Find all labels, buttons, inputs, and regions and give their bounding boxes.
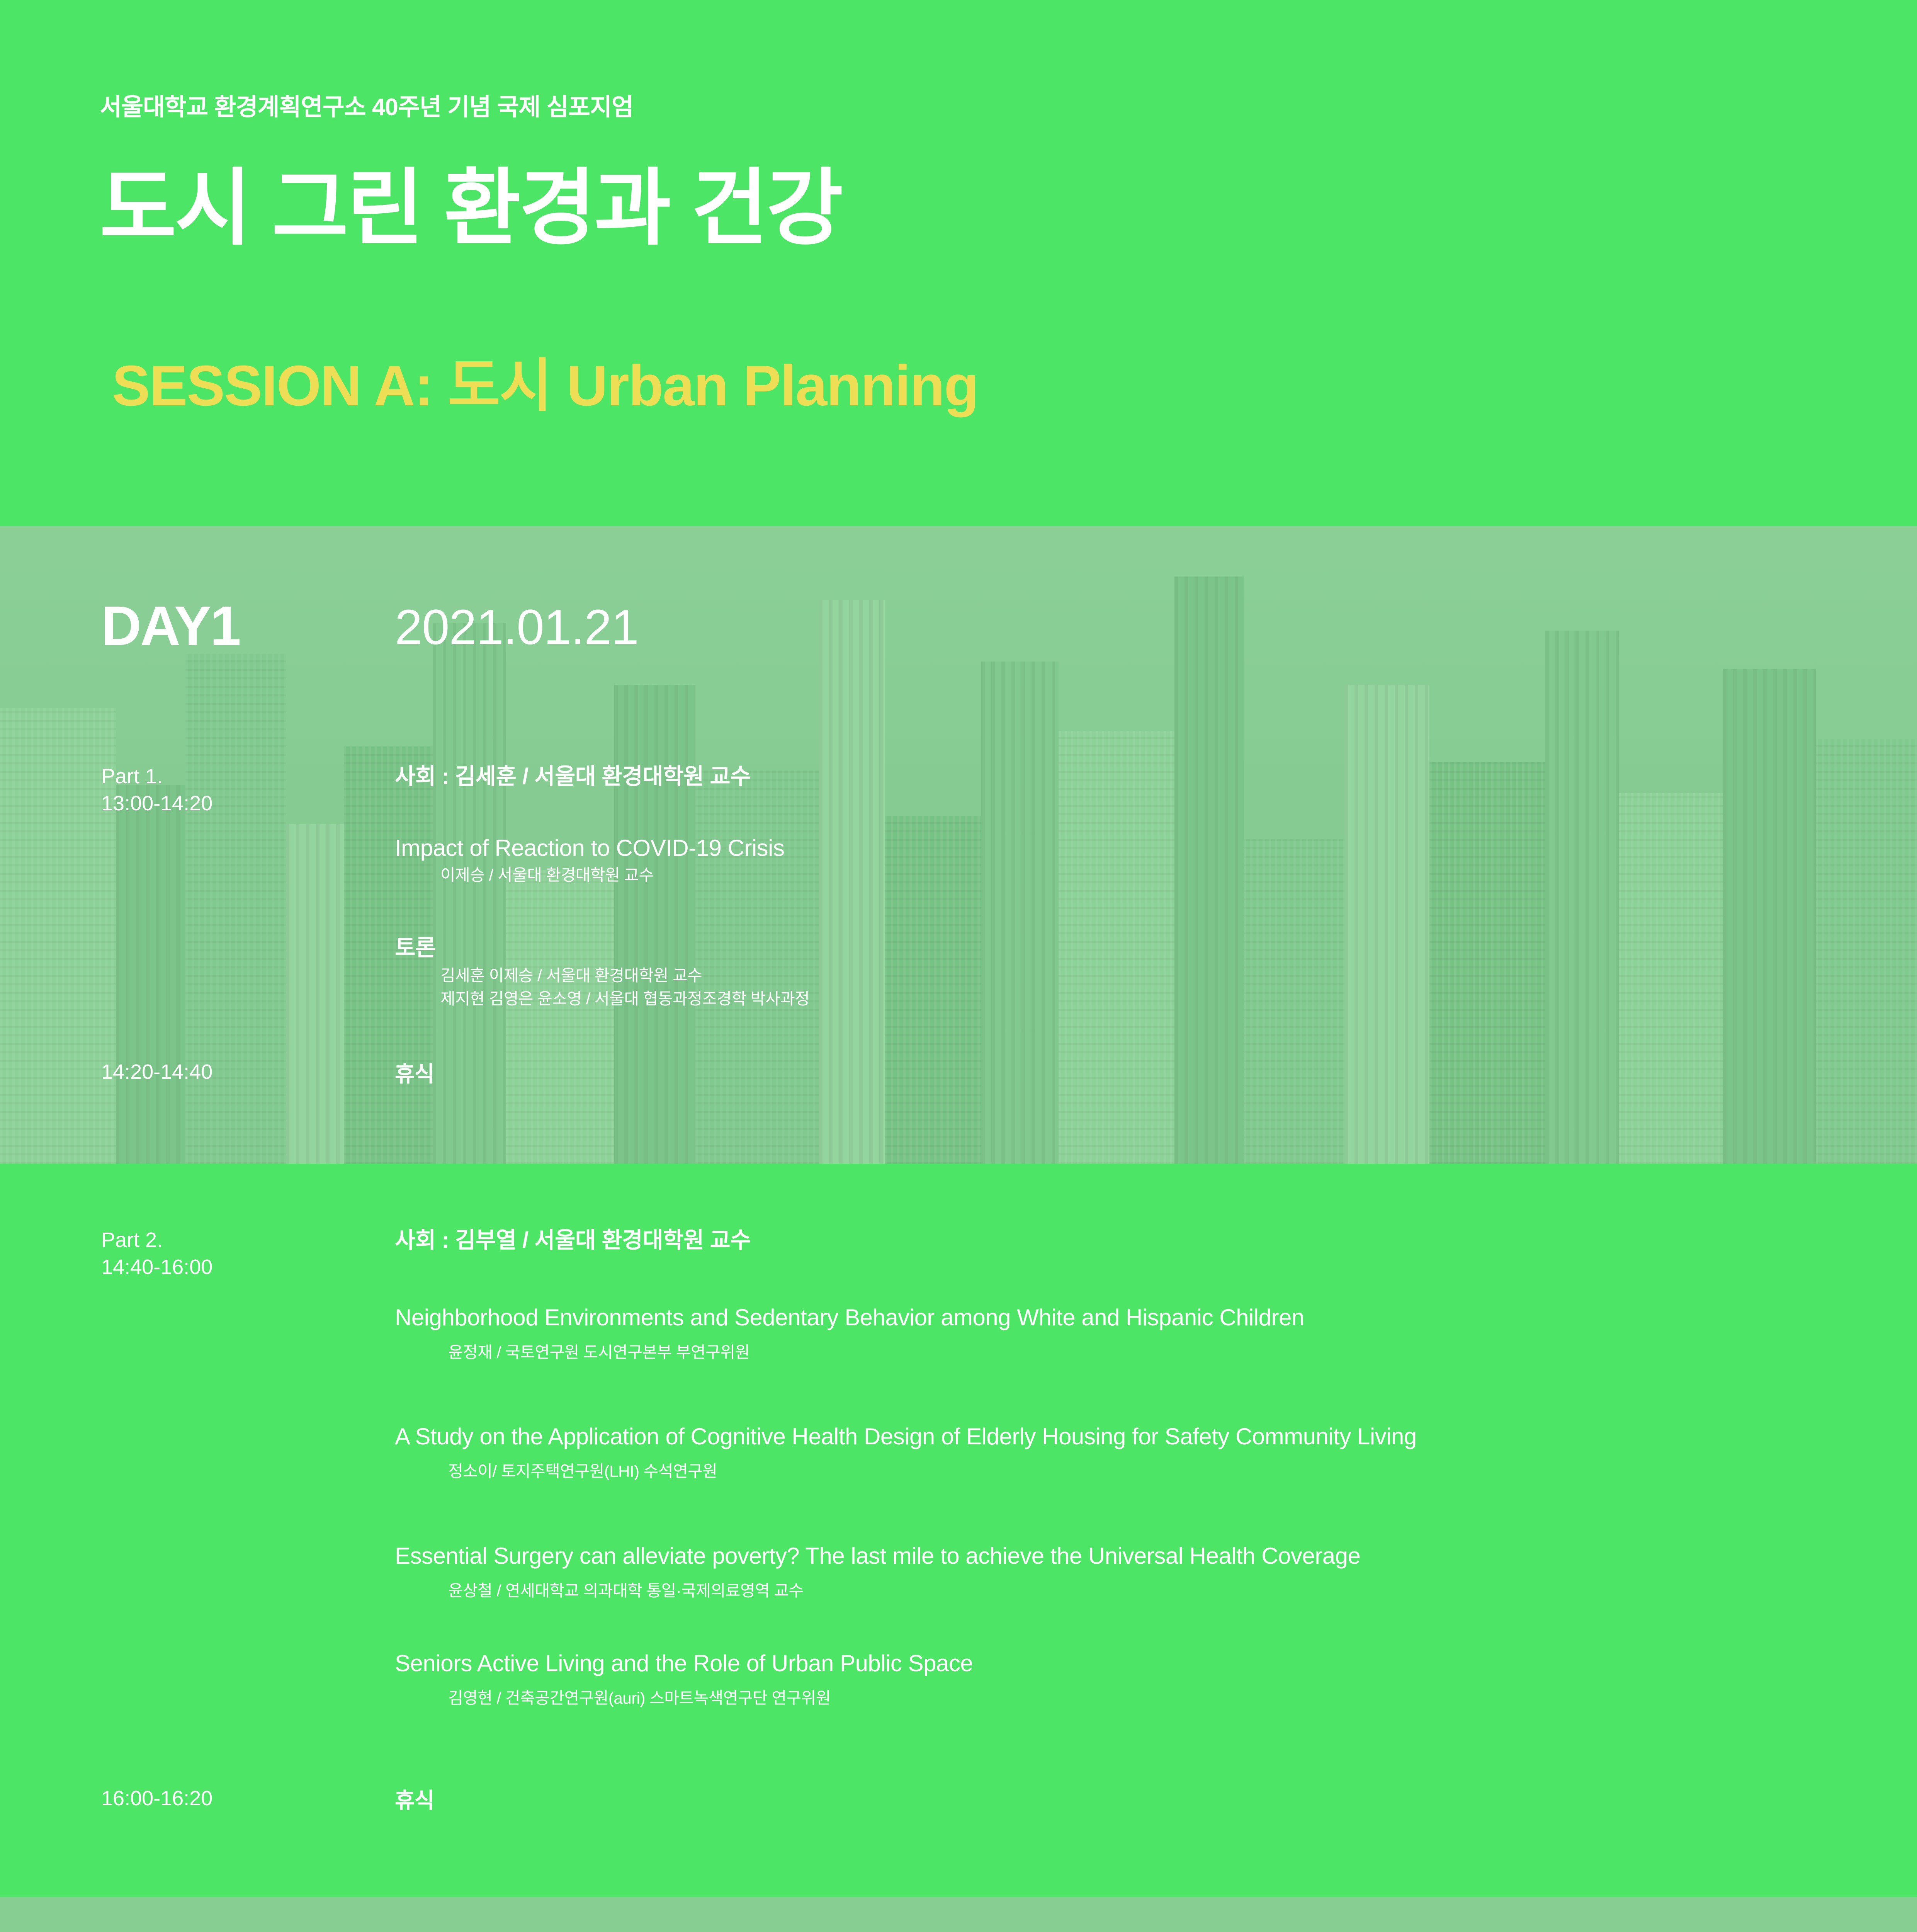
part1-time: Part 1. <box>101 763 163 790</box>
part2-talk-0-affiliation: 윤정재 / 국토연구원 도시연구본부 부연구위원 <box>448 1341 750 1364</box>
symposium-poster: 서울대학교 환경계획연구소 40주년 기념 국제 심포지엄 도시 그린 환경과 … <box>0 0 1917 1932</box>
part2-chair: 사회 : 김부열 / 서울대 환경대학원 교수 <box>395 1227 751 1254</box>
cityscape-photo <box>0 526 1917 1164</box>
part2-talk-3-title: Seniors Active Living and the Role of Ur… <box>395 1648 973 1679</box>
session-title: SESSION A: 도시 Urban Planning <box>112 357 978 415</box>
part1-chair: 사회 : 김세훈 / 서울대 환경대학원 교수 <box>395 763 751 790</box>
break2-label: 휴식 <box>395 1783 434 1815</box>
part1-talk-affiliation: 이제승 / 서울대 환경대학원 교수 <box>440 864 654 887</box>
event-date: 2021.01.21 <box>395 603 639 652</box>
photo-band <box>0 526 1917 1164</box>
part1-talk-title: Impact of Reaction to COVID-19 Crisis <box>395 833 785 864</box>
break1-label: 휴식 <box>395 1057 434 1088</box>
page-title: 도시 그린 환경과 건강 <box>100 166 842 250</box>
break2-time: 16:00-16:20 <box>101 1785 212 1812</box>
photo-tint-overlay <box>0 526 1917 1164</box>
part2-band <box>0 1164 1917 1897</box>
break1-time: 14:20-14:40 <box>101 1059 212 1085</box>
day-label: DAY1 <box>101 598 240 654</box>
part3-band <box>0 1897 1917 1932</box>
part2-talk-2-title: Essential Surgery can alleviate poverty?… <box>395 1541 1360 1571</box>
header-band <box>0 0 1917 526</box>
event-kicker: 서울대학교 환경계획연구소 40주년 기념 국제 심포지엄 <box>100 87 633 122</box>
part1-discussion-heading: 토론 <box>395 929 436 962</box>
part2-talk-2-affiliation: 윤상철 / 연세대학교 의과대학 통일·국제의료영역 교수 <box>448 1579 804 1602</box>
part2-label: Part 2. <box>101 1227 163 1253</box>
part1-discussants: 김세훈 이제승 / 서울대 환경대학원 교수 제지현 김영은 윤소영 / 서울대… <box>440 964 809 1010</box>
part2-time-range: 14:40-16:00 <box>101 1254 212 1281</box>
part2-talk-0-title: Neighborhood Environments and Sedentary … <box>395 1302 1304 1333</box>
part1-time-range: 13:00-14:20 <box>101 790 212 817</box>
part2-talk-3-affiliation: 김영현 / 건축공간연구원(auri) 스마트녹색연구단 연구위원 <box>448 1687 831 1710</box>
part2-talk-1-affiliation: 정소이/ 토지주택연구원(LHI) 수석연구원 <box>448 1460 717 1483</box>
part2-talk-1-title: A Study on the Application of Cognitive … <box>395 1421 1417 1452</box>
